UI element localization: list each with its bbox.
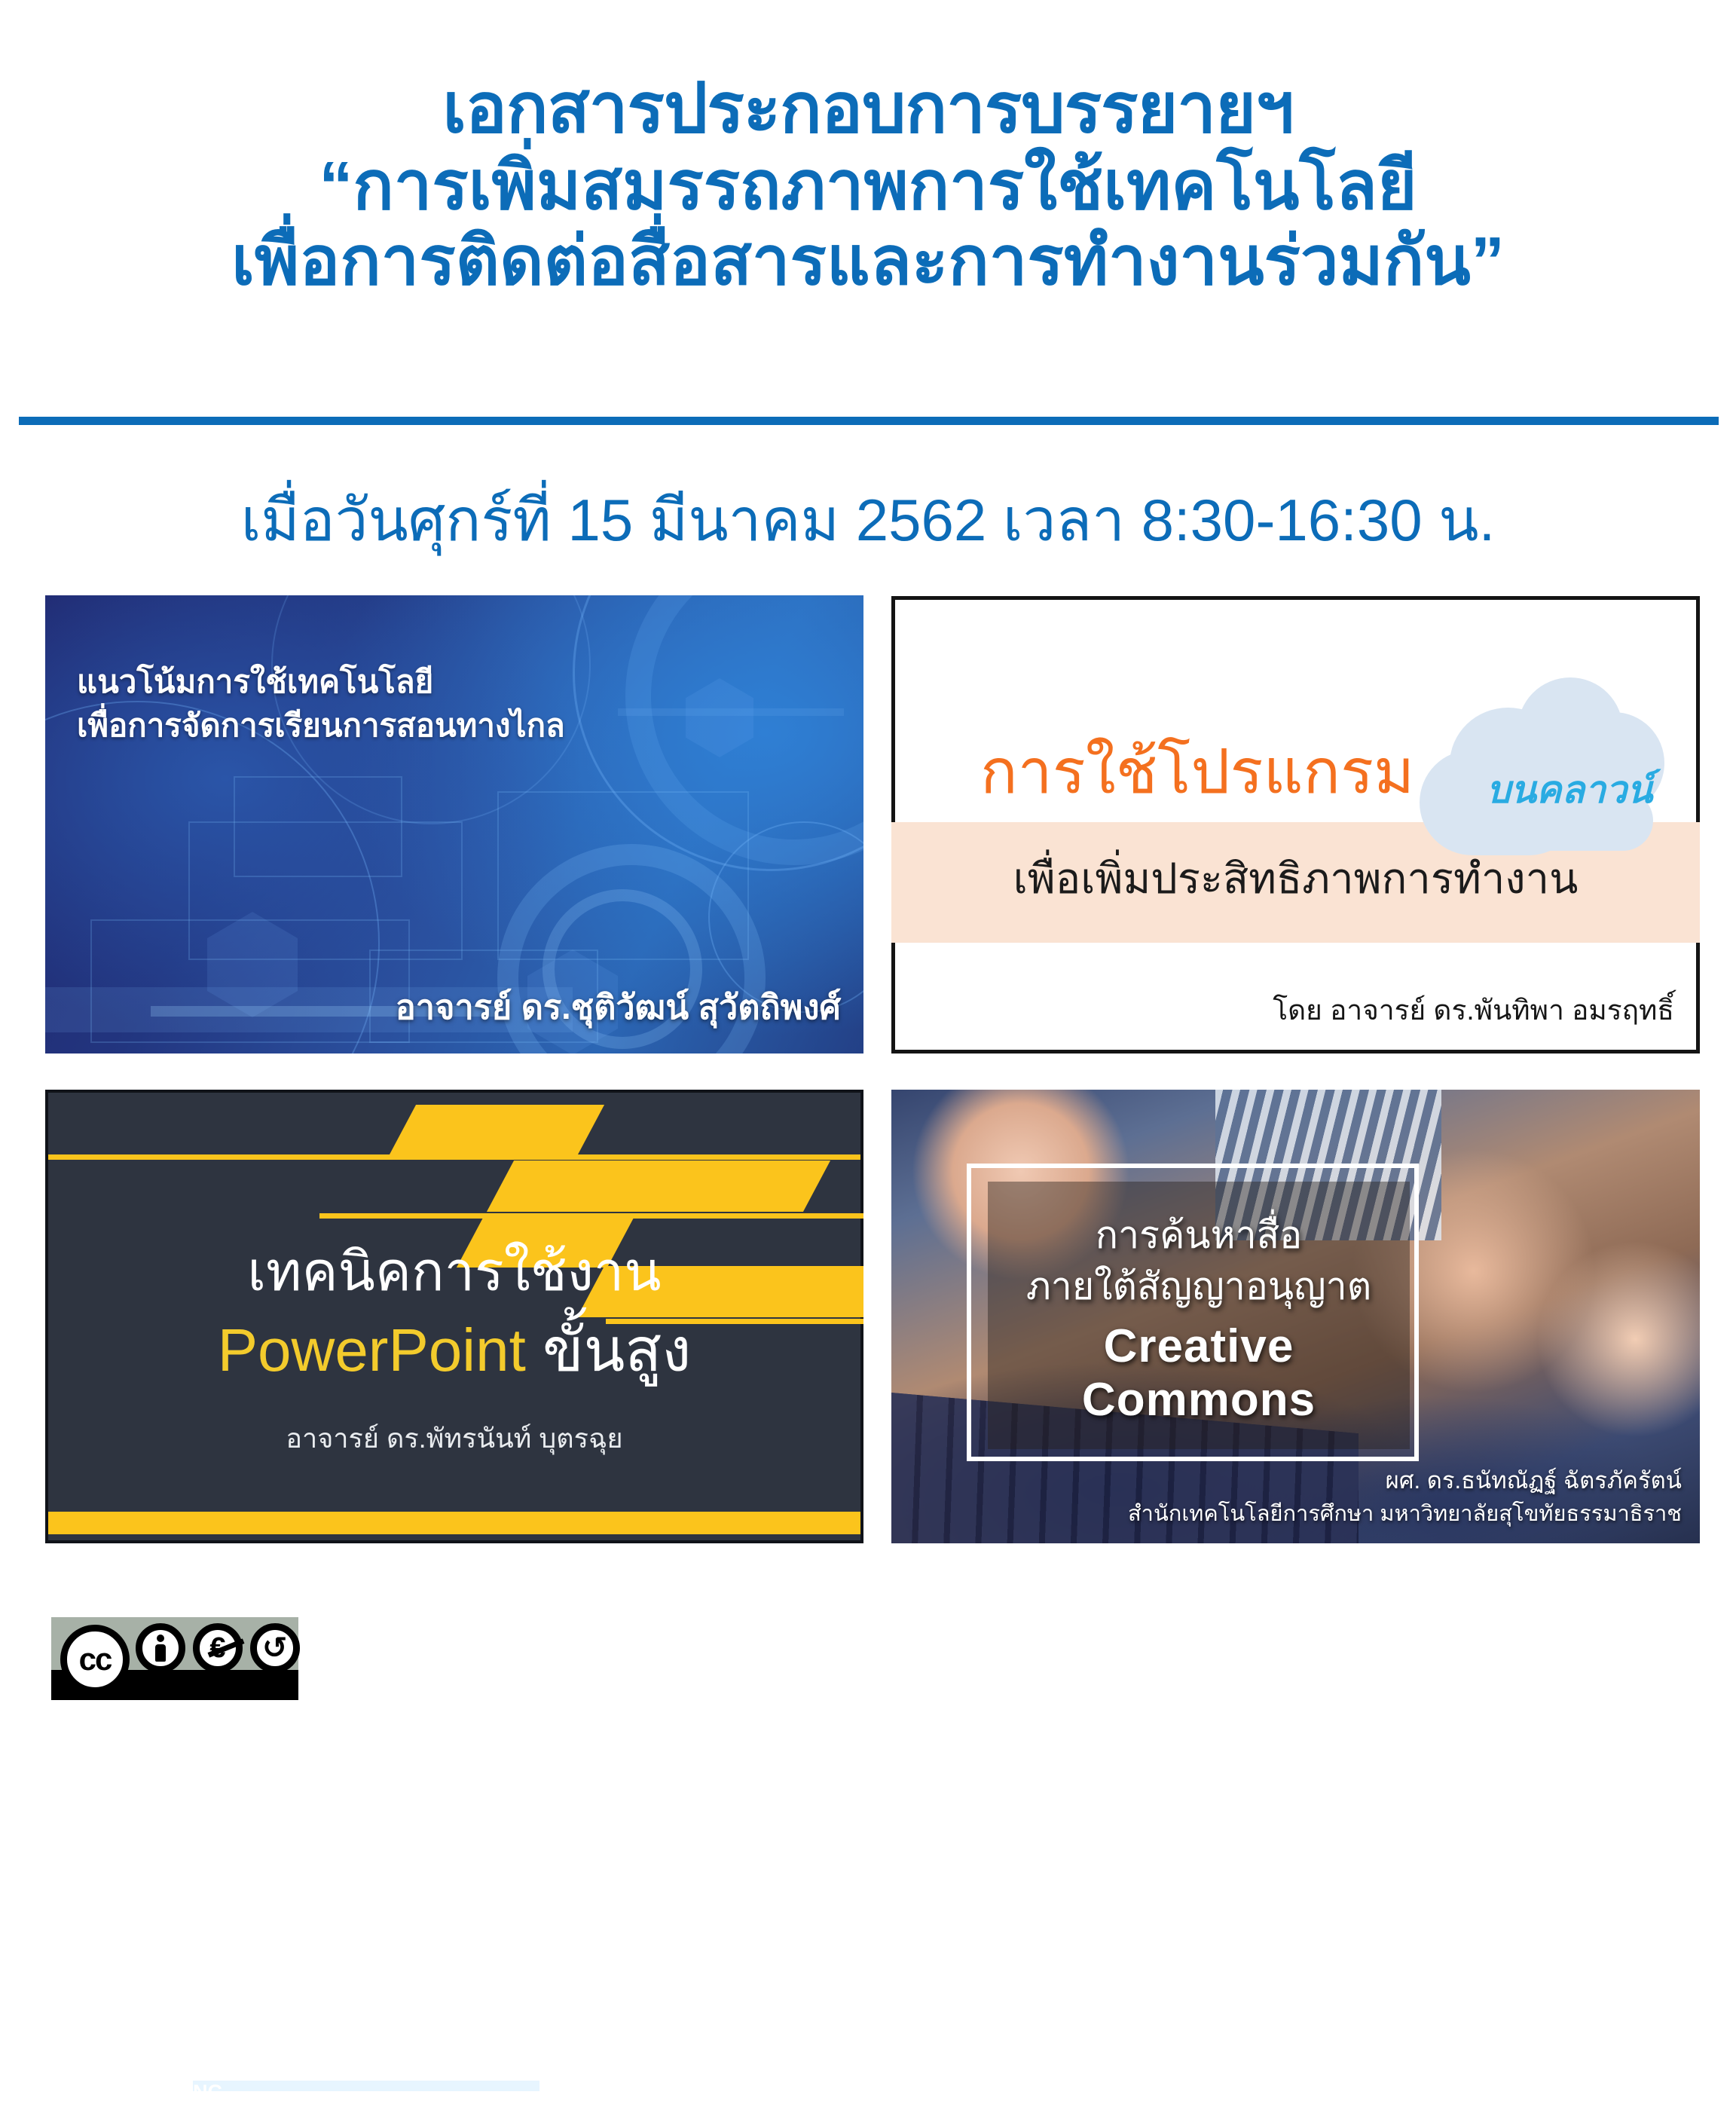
cc-sa-share-alike-icon: ↻: [250, 1623, 300, 1673]
yellow-parallelogram-decor: [389, 1105, 604, 1156]
slide3-title-line2: PowerPoint ขั้นสูง: [45, 1302, 863, 1398]
cc-by-person-icon: [136, 1623, 185, 1673]
slide3-title-advanced: ขั้นสูง: [526, 1316, 692, 1384]
yellow-parallelogram-decor: [487, 1161, 830, 1212]
slide2-subtitle: เพื่อเพิ่มประสิทธิภาพการทำงาน: [891, 845, 1700, 912]
circuit-rect-decor: [497, 791, 749, 960]
slide-thumbnail-powerpoint[interactable]: เทคนิคการใช้งาน PowerPoint ขั้นสูง อาจาร…: [45, 1090, 863, 1543]
slide3-author: อาจารย์ ดร.พัทรนันท์ บุตรฉุย: [45, 1417, 863, 1460]
slide3-title-powerpoint: PowerPoint: [218, 1316, 526, 1384]
slide4-author: ผศ. ดร.ธนัทณัฏฐ์ ฉัตรภัครัตน์: [1128, 1464, 1682, 1498]
slide1-title-line1: แนวโน้มการใช้เทคโนโลยี: [77, 660, 565, 704]
slide1-title: แนวโน้มการใช้เทคโนโลยี เพื่อการจัดการเรี…: [77, 660, 565, 748]
slide4-title-line1: การค้นหาสื่อ: [988, 1210, 1410, 1261]
person-icon: [153, 1635, 168, 1662]
cc-label-nc: NC: [193, 2081, 539, 2091]
creative-commons-license-badge[interactable]: cc € ↻ BY NC SA: [51, 1617, 298, 1700]
slide4-title-line2: ภายใต้สัญญาอนุญาต: [988, 1261, 1410, 1313]
poster-page: เอกสารประกอบการบรรยายฯ “การเพิ่มสมรรถภาพ…: [0, 0, 1736, 1736]
circuit-bar-decor: [618, 708, 844, 716]
slide-thumbnail-creative-commons[interactable]: การค้นหาสื่อ ภายใต้สัญญาอนุญาต Creative …: [891, 1090, 1700, 1543]
cc-nc-euro-icon: €: [193, 1623, 243, 1673]
cc-label-sa: SA: [252, 1783, 478, 1790]
circuit-rect-decor: [234, 776, 402, 877]
slide2-cloud-label: บนคลาวน์: [1487, 760, 1652, 820]
slide3-title-line1: เทคนิคการใช้งาน: [45, 1228, 863, 1314]
slide2-title: การใช้โปรแกรม: [980, 723, 1414, 821]
slide4-title-block: การค้นหาสื่อ ภายใต้สัญญาอนุญาต Creative …: [988, 1210, 1410, 1427]
slide4-title-line3: Creative Commons: [988, 1320, 1410, 1427]
slide4-footer: ผศ. ดร.ธนัทณัฏฐ์ ฉัตรภัครัตน์ สำนักเทคโน…: [1128, 1464, 1682, 1530]
slide1-title-line2: เพื่อการจัดการเรียนการสอนทางไกล: [77, 704, 565, 748]
cc-labels: BY NC SA: [51, 1670, 298, 1700]
slide2-author: โดย อาจารย์ ดร.พันทิพา อมรฤทธิ์: [1273, 988, 1674, 1032]
euro-slash-icon: €: [209, 1634, 225, 1662]
slide-thumbnail-cloud-programs[interactable]: การใช้โปรแกรม บนคลาวน์ เพื่อเพิ่มประสิทธ…: [891, 596, 1700, 1053]
slide1-author: อาจารย์ ดร.ชุติวัฒน์ สุวัตถิพงศ์: [396, 980, 841, 1034]
slide-thumbnail-grid: แนวโน้มการใช้เทคโนโลยี เพื่อการจัดการเรี…: [0, 0, 1736, 1736]
circular-arrow-icon: ↻: [262, 1633, 288, 1663]
slide4-affiliation: สำนักเทคโนโลยีการศึกษา มหาวิทยาลัยสุโขทั…: [1128, 1498, 1682, 1530]
yellow-footer-bar: [48, 1512, 860, 1534]
slide-thumbnail-tech-trends[interactable]: แนวโน้มการใช้เทคโนโลยี เพื่อการจัดการเรี…: [45, 595, 863, 1053]
